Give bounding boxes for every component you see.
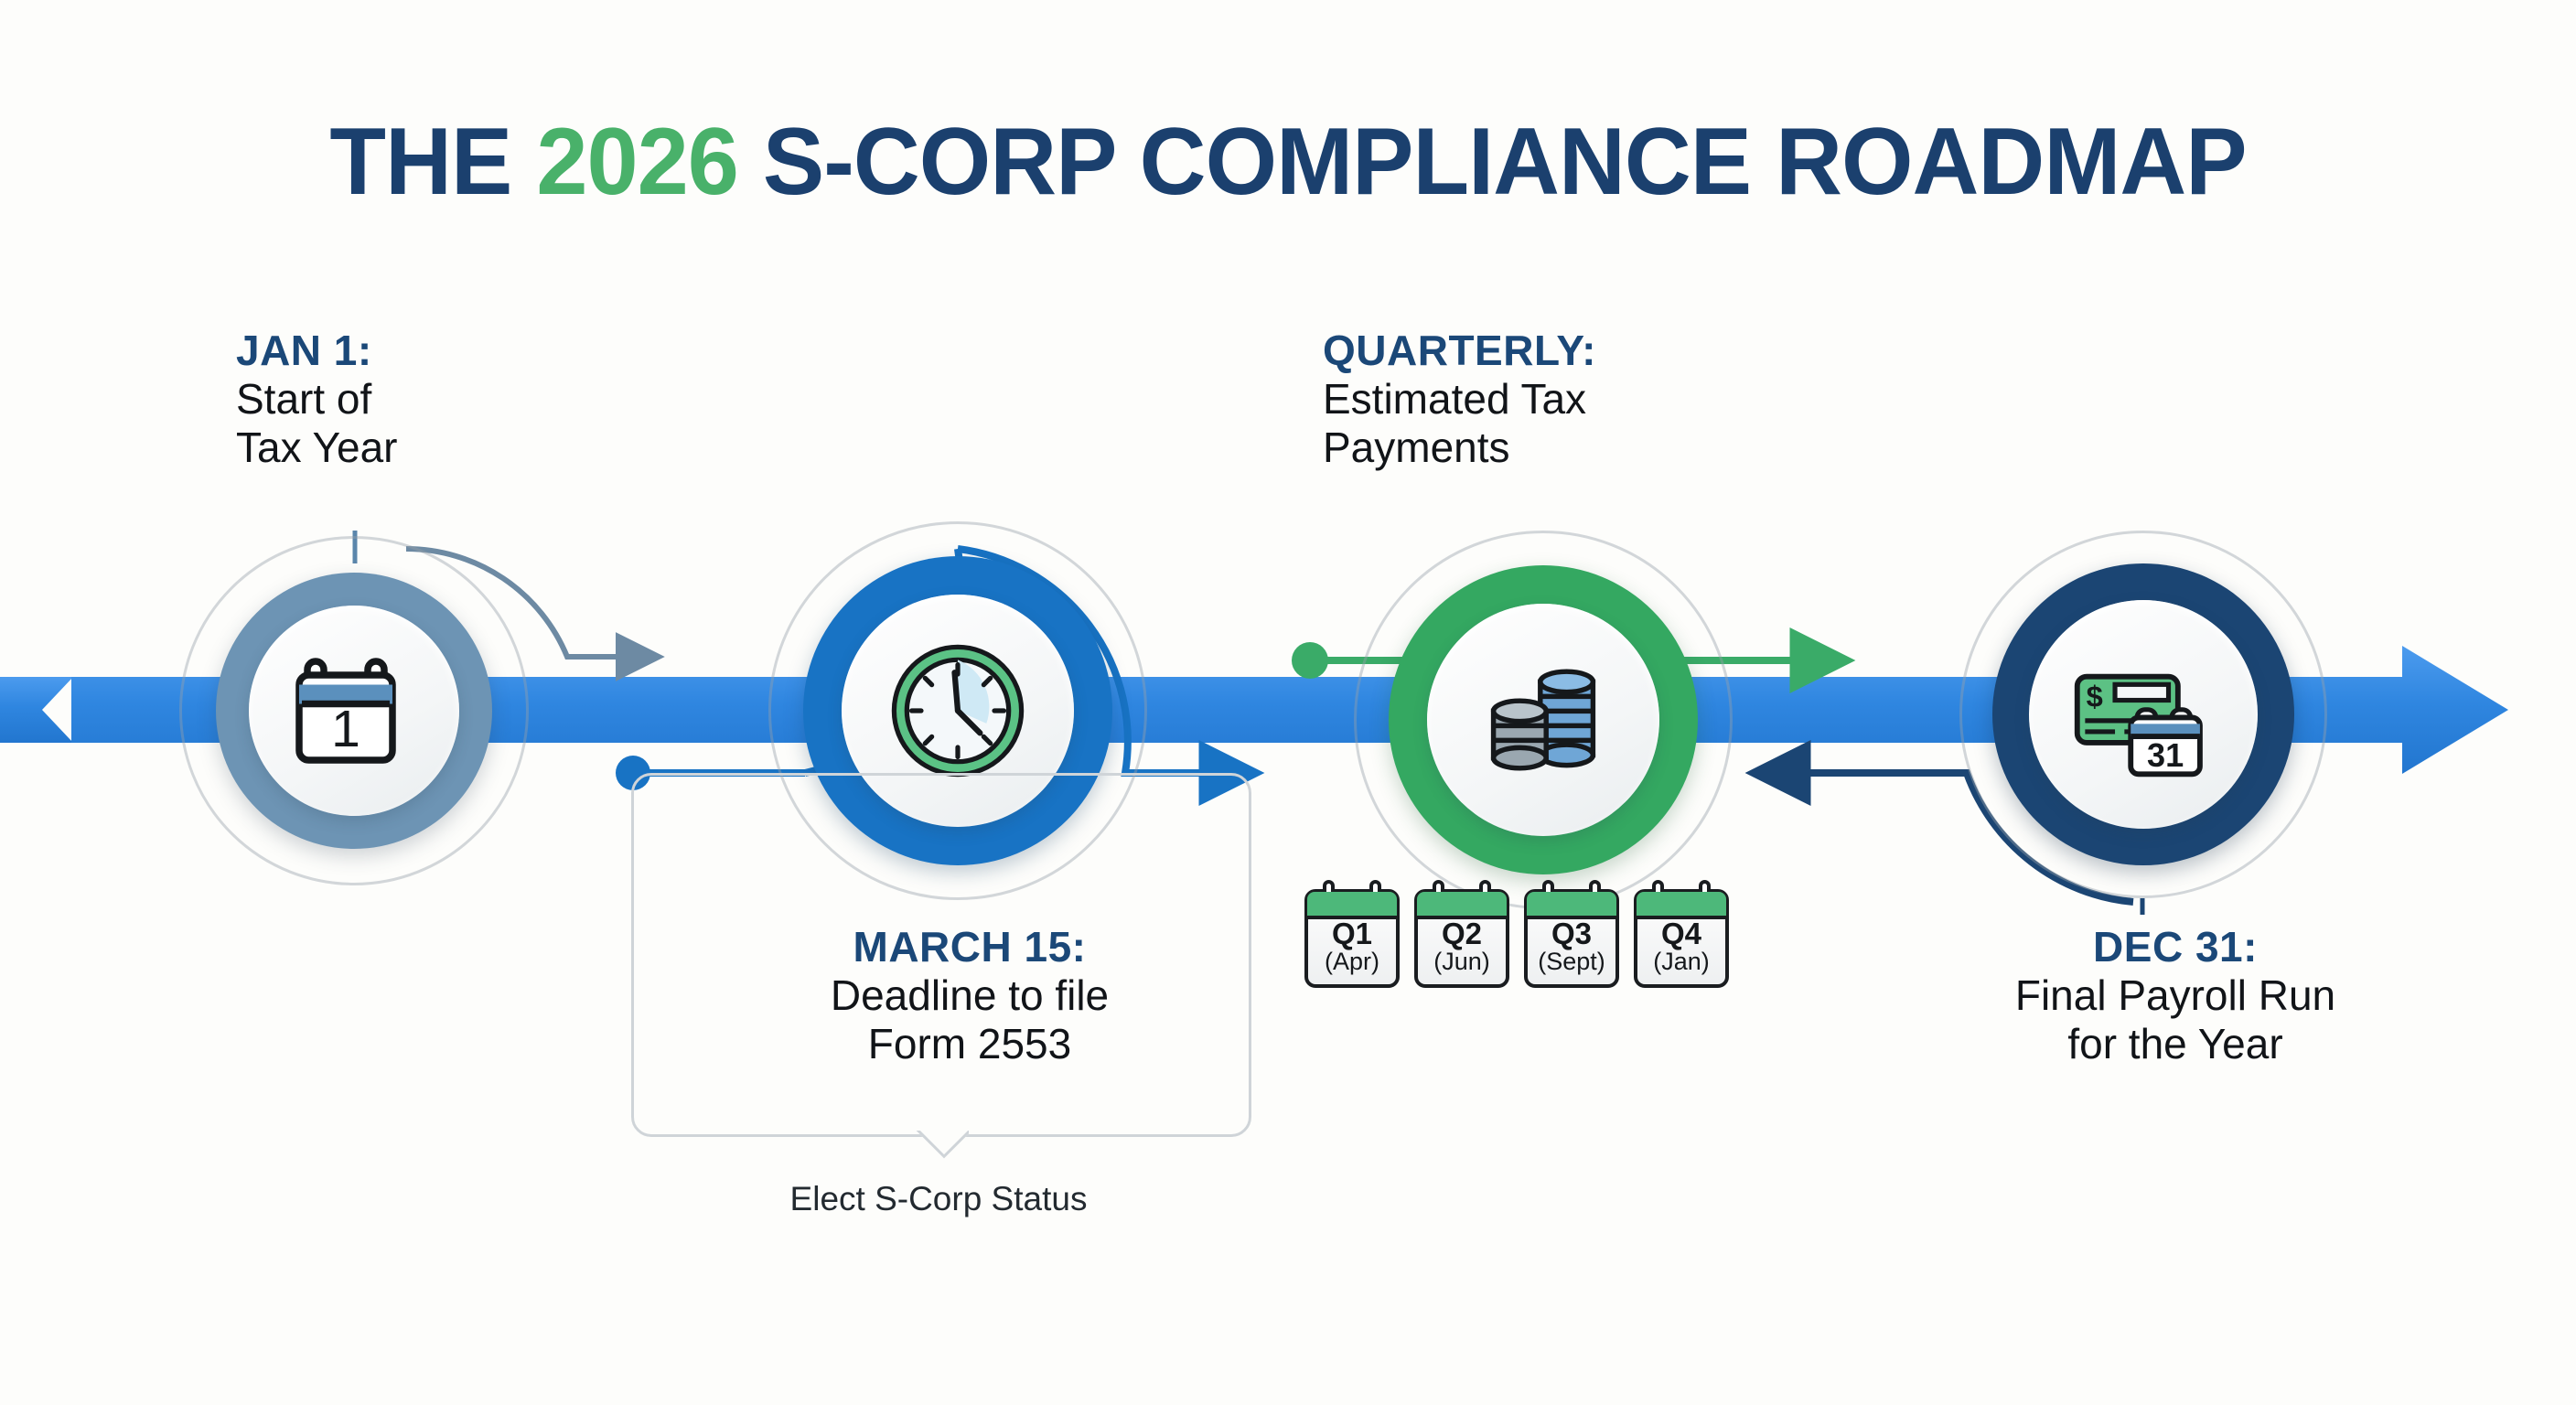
title-suffix: S-CORP COMPLIANCE ROADMAP: [738, 109, 2247, 215]
milestone-line1: Start of: [236, 375, 620, 424]
milestone-line2: Payments: [1323, 424, 1780, 472]
quarter-label: Q1: [1308, 918, 1396, 949]
quarter-calendar-chip[interactable]: Q4 (Jan): [1634, 889, 1729, 988]
timeline-arrow-band: [0, 677, 73, 743]
calendar-header: [1637, 892, 1726, 919]
connector-dot-quarterly: [1292, 642, 1328, 679]
calendar-header: [1417, 892, 1507, 919]
milestone-line1: Final Payroll Run: [1919, 971, 2431, 1020]
quarter-month: (Jan): [1637, 949, 1725, 975]
node-core: 1: [249, 606, 459, 816]
quarter-label: Q3: [1528, 918, 1615, 949]
milestone-kicker: JAN 1:: [236, 327, 620, 375]
svg-text:31: 31: [2147, 736, 2184, 774]
clock-icon: [878, 631, 1037, 790]
svg-text:$: $: [2087, 679, 2103, 713]
callout-caption: Elect S-Corp Status: [631, 1180, 1246, 1218]
milestone-line1: Estimated Tax: [1323, 375, 1780, 424]
quarter-month: (Sept): [1528, 949, 1615, 975]
svg-text:1: 1: [331, 700, 360, 758]
milestone-node-jan1[interactable]: 1: [179, 536, 529, 885]
title-prefix: THE: [329, 109, 536, 215]
paycheck-calendar-icon: $ 31: [2065, 636, 2222, 793]
quarter-calendar-chip[interactable]: Q2 (Jun): [1414, 889, 1509, 988]
milestone-kicker: QUARTERLY:: [1323, 327, 1780, 375]
quarter-month: (Apr): [1308, 949, 1396, 975]
calendar-header: [1307, 892, 1397, 919]
infographic-canvas: THE 2026 S-CORP COMPLIANCE ROADMAP: [0, 0, 2576, 1405]
page-title: THE 2026 S-CORP COMPLIANCE ROADMAP: [38, 108, 2538, 217]
callout-tail: [914, 1131, 969, 1167]
milestone-node-quarterly[interactable]: [1354, 531, 1733, 909]
milestone-line2: Tax Year: [236, 424, 620, 472]
milestone-text-jan1: JAN 1: Start of Tax Year: [236, 327, 620, 472]
milestone-line2: Form 2553: [732, 1020, 1207, 1068]
node-core: [1427, 604, 1659, 836]
milestone-line1: Deadline to file: [732, 971, 1207, 1020]
milestone-text-march15: MARCH 15: Deadline to file Form 2553: [732, 924, 1207, 1068]
milestone-kicker: MARCH 15:: [732, 924, 1207, 971]
milestone-node-dec31[interactable]: $ 31: [1959, 531, 2327, 898]
milestone-kicker: DEC 31:: [1919, 924, 2431, 971]
coin-stacks-icon: [1470, 647, 1616, 793]
quarter-calendar-chip[interactable]: Q3 (Sept): [1524, 889, 1619, 988]
calendar-header: [1527, 892, 1616, 919]
node-core: $ 31: [2029, 600, 2258, 829]
title-year: 2026: [536, 109, 738, 215]
quarter-label: Q2: [1418, 918, 1506, 949]
quarter-calendar-chip[interactable]: Q1 (Apr): [1304, 889, 1400, 988]
calendar-day-1-icon: 1: [285, 642, 423, 779]
milestone-line2: for the Year: [1919, 1020, 2431, 1068]
quarterly-calendar-row: Q1 (Apr) Q2 (Jun) Q3 (Sept) Q4 (Jan): [1304, 889, 1729, 988]
milestone-text-dec31: DEC 31: Final Payroll Run for the Year: [1919, 924, 2431, 1068]
milestone-text-quarterly: QUARTERLY: Estimated Tax Payments: [1323, 327, 1780, 472]
quarter-month: (Jun): [1418, 949, 1506, 975]
quarter-label: Q4: [1637, 918, 1725, 949]
